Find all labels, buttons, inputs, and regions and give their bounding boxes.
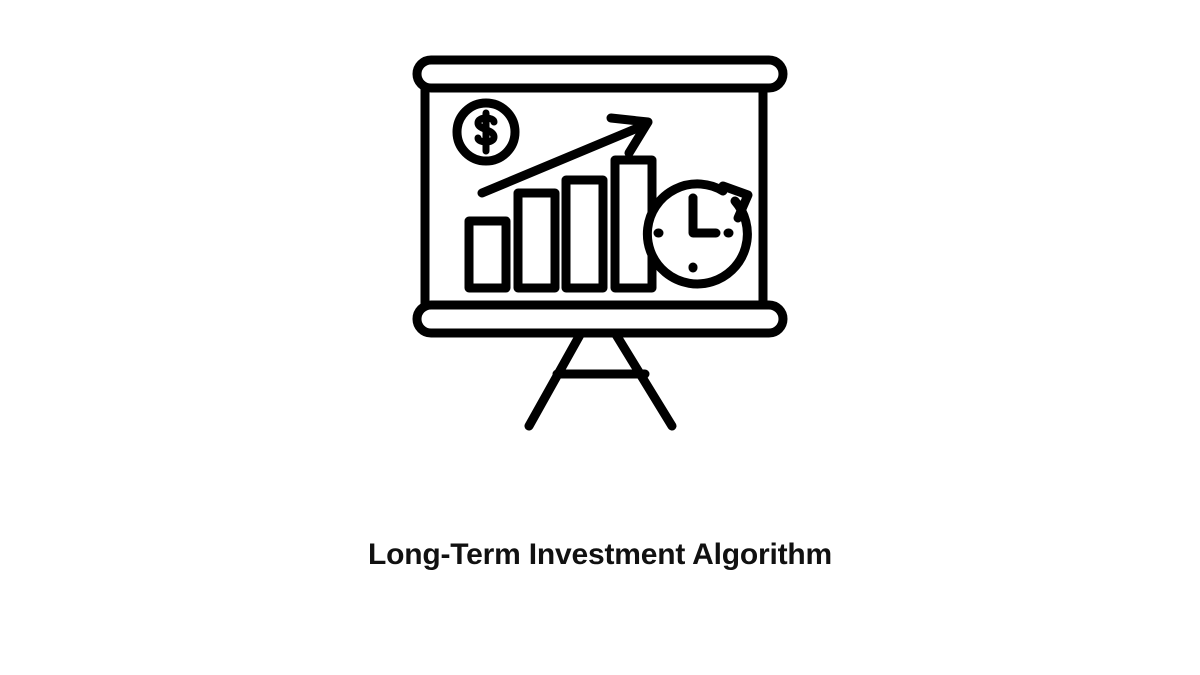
- page-root: Long-Term Investment Algorithm: [0, 0, 1200, 675]
- bar-1: [469, 221, 506, 288]
- bottom-roller-bar: [417, 305, 783, 333]
- icon-strokes: [417, 60, 783, 426]
- bar-3: [566, 180, 603, 288]
- presentation-board-growth-chart-icon: [390, 40, 810, 460]
- tripod-leg-right: [615, 333, 672, 426]
- tripod-leg-left: [529, 333, 581, 426]
- illustration-container: [0, 0, 1200, 500]
- top-roller-bar: [417, 60, 783, 88]
- bar-2: [518, 193, 555, 288]
- page-title: Long-Term Investment Algorithm: [0, 535, 1200, 575]
